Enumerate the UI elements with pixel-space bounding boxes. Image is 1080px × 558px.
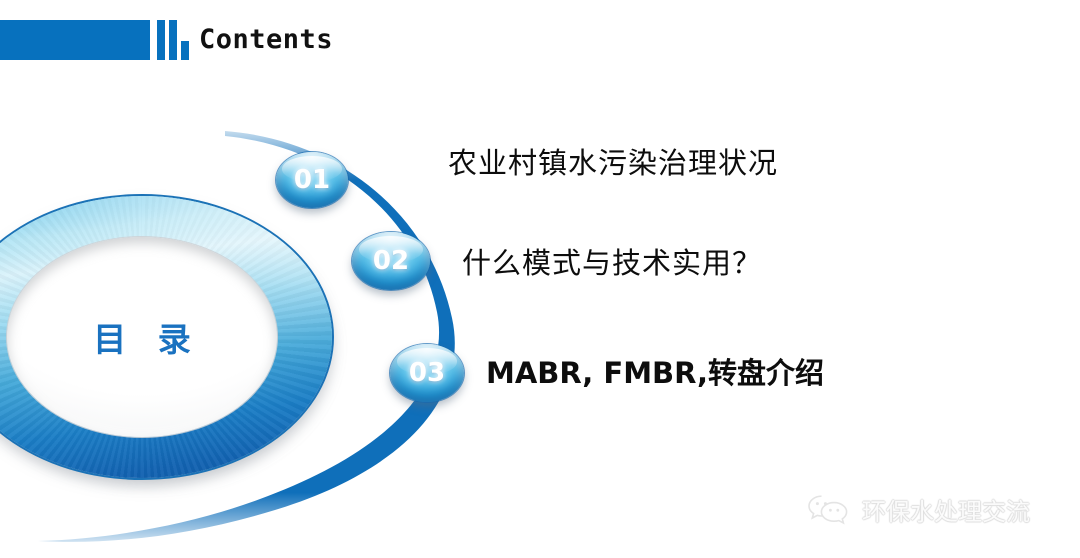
item-badge-01-number: 01 xyxy=(294,165,330,195)
header-tick-bar-tall-2 xyxy=(169,20,177,60)
slide-canvas: Contents 目 录 01 02 03 xyxy=(0,0,1080,558)
page-title: Contents xyxy=(199,24,333,55)
item-badge-02[interactable]: 02 xyxy=(352,232,430,290)
header-accent-bar xyxy=(0,20,150,60)
item-label-01: 农业村镇水污染治理状况 xyxy=(448,140,778,182)
center-ring-graphic: 目 录 xyxy=(0,196,344,491)
item-badge-02-number: 02 xyxy=(373,246,409,276)
item-badge-03-number: 03 xyxy=(409,358,445,388)
item-label-03: MABR, FMBR,转盘介绍 xyxy=(486,350,824,392)
ring-center-label: 目 录 xyxy=(7,237,277,437)
item-badge-03[interactable]: 03 xyxy=(390,344,464,402)
header-tick-bar-tall-1 xyxy=(157,20,165,60)
item-label-02: 什么模式与技术实用？ xyxy=(462,240,762,282)
item-badge-01[interactable]: 01 xyxy=(276,152,348,208)
wechat-icon xyxy=(806,493,852,527)
header-tick-bar-short xyxy=(181,41,189,60)
watermark-label: 环保水处理交流 xyxy=(862,492,1030,527)
watermark: 环保水处理交流 xyxy=(806,492,1030,527)
